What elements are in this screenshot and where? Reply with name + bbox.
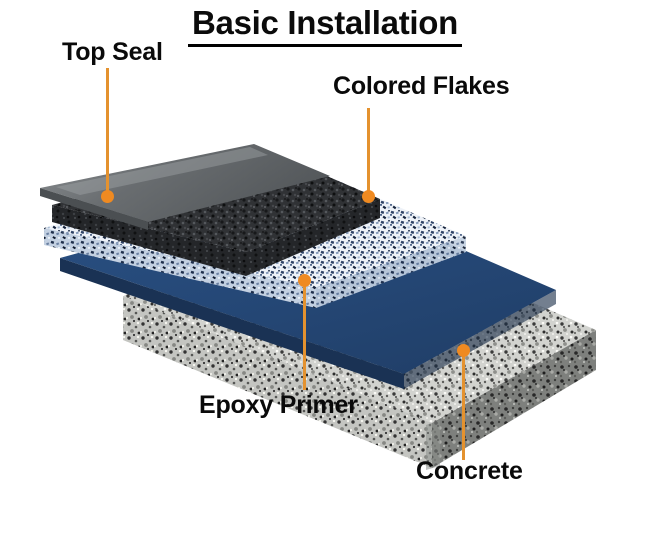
callout-label-colored-flakes: Colored Flakes xyxy=(333,72,509,101)
leader-dot-epoxy-primer xyxy=(298,274,311,287)
leader-line-epoxy-primer xyxy=(303,280,306,390)
leader-line-concrete xyxy=(462,350,465,460)
callout-label-top-seal: Top Seal xyxy=(62,38,163,67)
leader-line-top-seal xyxy=(106,68,109,198)
installation-layer-diagram xyxy=(0,0,650,538)
leader-dot-colored-flakes xyxy=(362,190,375,203)
callout-label-epoxy-primer: Epoxy Primer xyxy=(199,391,358,420)
leader-line-colored-flakes xyxy=(367,108,370,198)
leader-dot-concrete xyxy=(457,344,470,357)
leader-dot-top-seal xyxy=(101,190,114,203)
diagram-canvas: Basic Installation xyxy=(0,0,650,538)
callout-label-concrete: Concrete xyxy=(416,457,523,486)
